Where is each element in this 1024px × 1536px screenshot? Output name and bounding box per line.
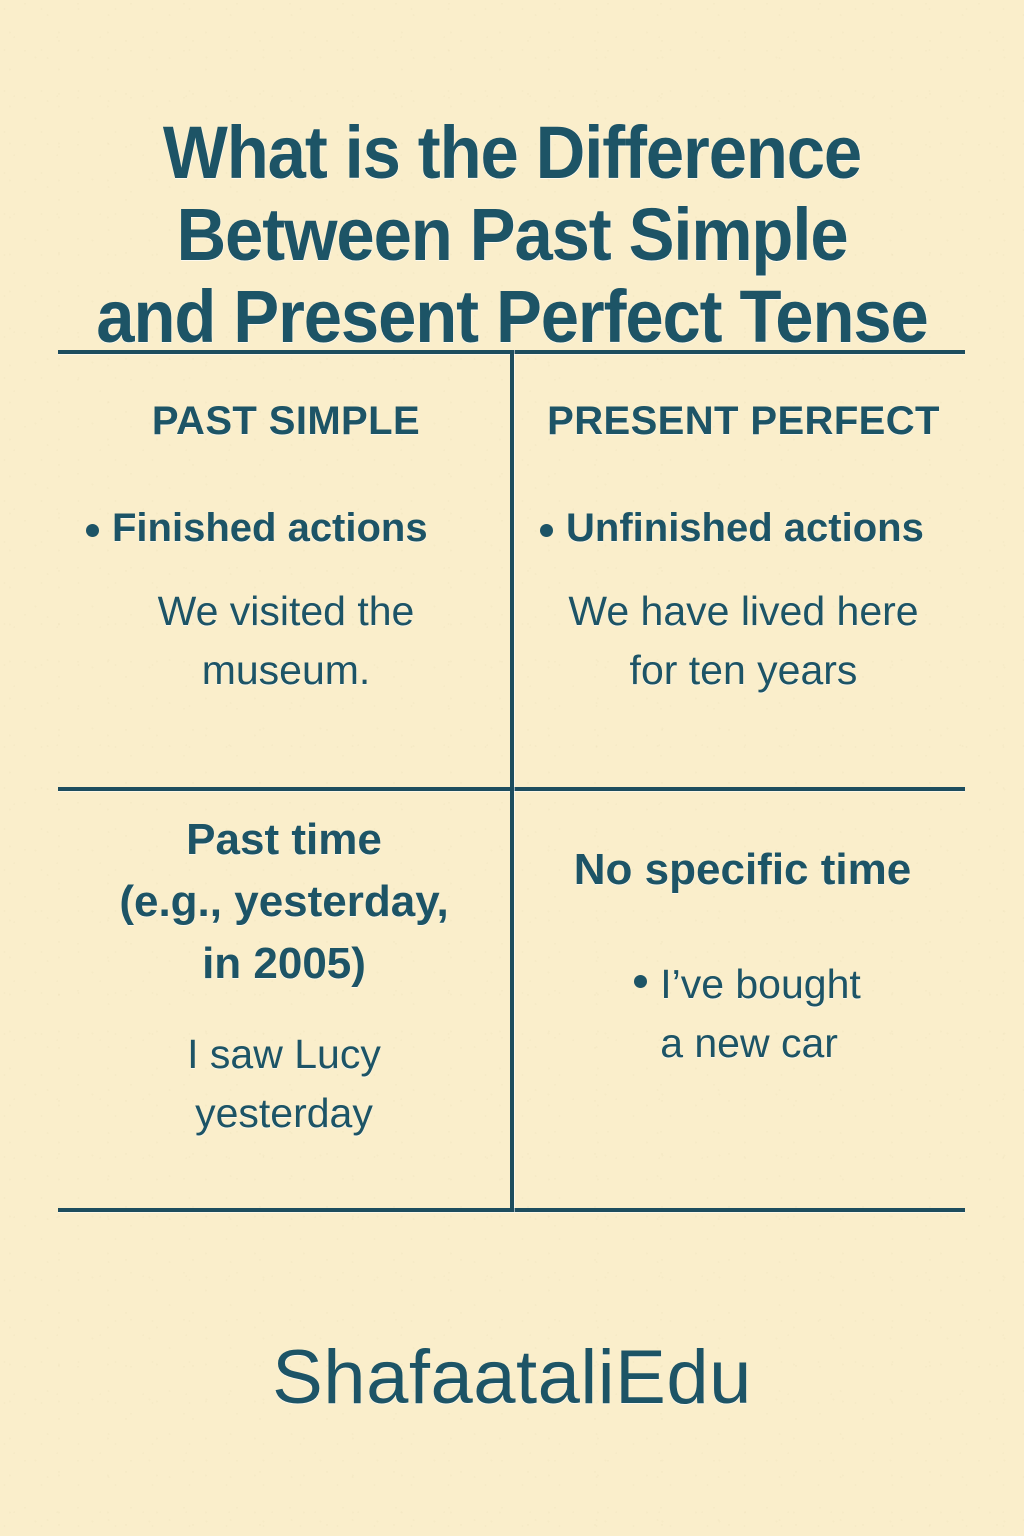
- table-cell-present-perfect-time: No specific time I’ve bought a new car: [514, 791, 965, 1208]
- subheading-no-specific-time: No specific time: [532, 839, 953, 901]
- table-cell-present-perfect-actions: PRESENT PERFECT Unfinished actions We ha…: [514, 354, 965, 787]
- comparison-table: PAST SIMPLE Finished actions We visited …: [58, 350, 965, 1212]
- example-line-2: museum.: [76, 641, 496, 700]
- bullet-item-line-1: I’ve bought: [660, 955, 861, 1014]
- example-sentence-present-perfect-lived: We have lived here for ten years: [530, 582, 957, 700]
- infographic-page: What is the Difference Between Past Simp…: [0, 0, 1024, 1536]
- example-line-2: for ten years: [530, 641, 957, 700]
- bullet-item-bought-car: I’ve bought a new car: [532, 955, 953, 1073]
- subheading-line-3: in 2005): [68, 933, 500, 995]
- bullet-item-unfinished-actions: Unfinished actions: [530, 504, 957, 552]
- bullet-item-label: Unfinished actions: [566, 504, 924, 552]
- subheading-line-1: Past time: [68, 809, 500, 871]
- subheading-line-2: (e.g., yesterday,: [68, 871, 500, 933]
- example-line-1: We visited the: [76, 582, 496, 641]
- column-header-present-perfect: PRESENT PERFECT: [530, 398, 957, 444]
- example-line-1: I saw Lucy: [68, 1025, 500, 1084]
- bullet-dot-icon: [540, 524, 553, 537]
- bullet-item-finished-actions: Finished actions: [76, 504, 496, 552]
- bullet-dot-icon: [634, 975, 647, 988]
- footer-brand: ShafaataliEdu: [0, 1332, 1024, 1424]
- bullet-dot-icon: [86, 524, 99, 537]
- page-title: What is the Difference Between Past Simp…: [62, 112, 962, 358]
- page-title-line-3: and Present Perfect Tense: [62, 276, 962, 358]
- bullet-item-line-2: a new car: [660, 1014, 861, 1073]
- bullet-item-label: I’ve bought a new car: [660, 955, 861, 1073]
- subheading-line-1: No specific time: [532, 839, 953, 901]
- page-title-line-1: What is the Difference: [62, 112, 962, 194]
- example-sentence-past-simple-lucy: I saw Lucy yesterday: [68, 1025, 500, 1143]
- bullet-item-label: Finished actions: [112, 504, 428, 552]
- example-line-1: We have lived here: [530, 582, 957, 641]
- example-line-2: yesterday: [68, 1084, 500, 1143]
- page-title-line-2: Between Past Simple: [62, 194, 962, 276]
- table-cell-past-simple-actions: PAST SIMPLE Finished actions We visited …: [58, 354, 510, 787]
- subheading-past-time: Past time (e.g., yesterday, in 2005): [68, 809, 500, 995]
- example-sentence-past-simple-museum: We visited the museum.: [76, 582, 496, 700]
- table-cell-past-simple-time: Past time (e.g., yesterday, in 2005) I s…: [58, 791, 510, 1208]
- column-header-past-simple: PAST SIMPLE: [76, 398, 496, 444]
